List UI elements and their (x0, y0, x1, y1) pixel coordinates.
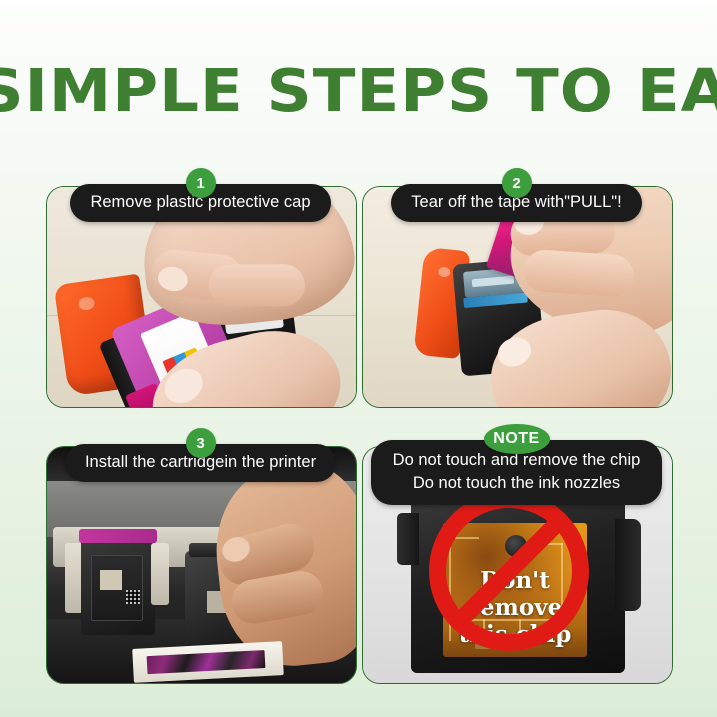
note-header: NOTE Do not touch and remove the chip Do… (362, 424, 671, 505)
qr-code (126, 590, 140, 604)
step-1-badge: 1 (186, 168, 216, 198)
label-square (100, 570, 122, 590)
step-3-photo (47, 447, 356, 683)
cartridge-left-tab (397, 513, 419, 565)
step-3-header: 3 Install the cartridgein the printer (46, 428, 355, 482)
step-1-header: 1 Remove plastic protective cap (46, 168, 355, 222)
finger (522, 249, 635, 299)
cartridge-magenta-top (79, 529, 157, 543)
finger (209, 264, 305, 306)
prohibition-icon (429, 491, 589, 651)
installed-color-cartridge (81, 539, 155, 635)
infographic-page: SIMPLE STEPS TO EASILY (0, 0, 717, 717)
cartridge-right-tab (615, 519, 641, 611)
cartridge-label (91, 555, 143, 621)
ink-print (147, 650, 266, 674)
step-3-badge: 3 (186, 428, 216, 458)
carriage-latch (151, 543, 169, 605)
note-badge: NOTE (484, 424, 550, 454)
step-2-badge: 2 (502, 168, 532, 198)
note-caption-line-2: Do not touch the ink nozzles (393, 472, 641, 495)
step-2-header: 2 Tear off the tape with"PULL"! (362, 168, 671, 222)
page-title: SIMPLE STEPS TO EASILY (0, 60, 717, 122)
